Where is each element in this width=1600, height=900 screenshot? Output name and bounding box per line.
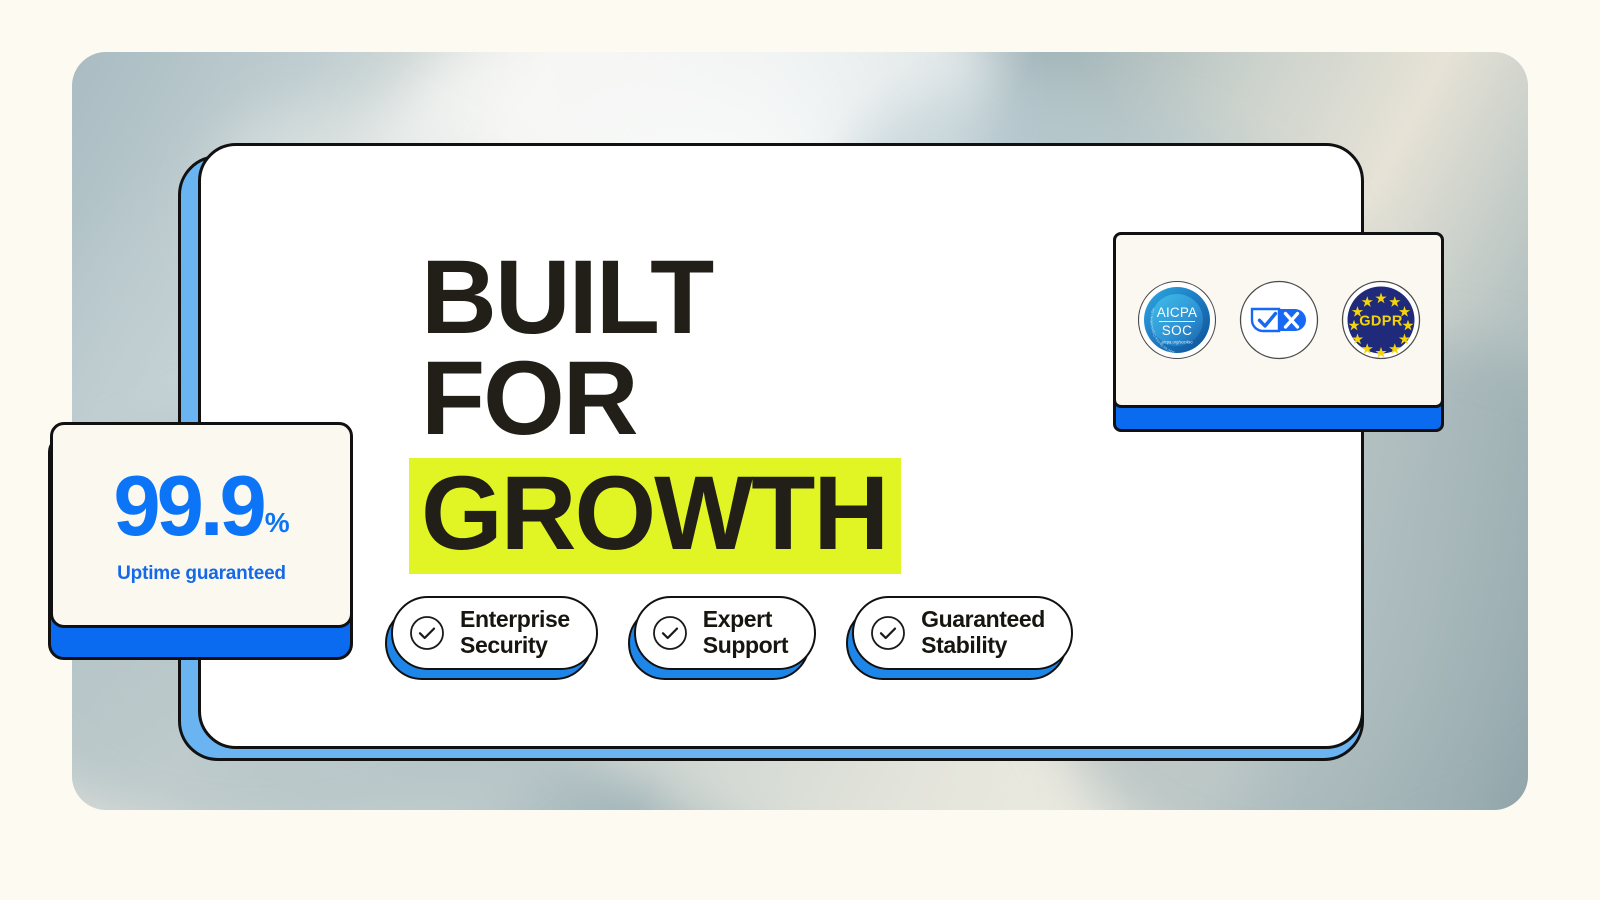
headline-highlight-growth: GROWTH: [409, 458, 901, 575]
aicpa-soc-badge-icon: AICPA SOC aicpa.org/soc4so SOC for Servi…: [1137, 280, 1217, 360]
uptime-stat-card: 99.9 % Uptime guaranteed: [50, 422, 353, 628]
feature-pill-label: Expert Support: [703, 607, 788, 659]
check-circle-icon: [409, 615, 445, 651]
feature-pill-guaranteed-stability-wrap: Guaranteed Stability: [852, 596, 1073, 670]
feature-pill-label: Enterprise Security: [460, 607, 570, 659]
uptime-caption: Uptime guaranteed: [117, 563, 286, 585]
feature-pill-enterprise-security[interactable]: Enterprise Security: [391, 596, 598, 670]
check-circle-icon: [652, 615, 688, 651]
svg-text:GDPR: GDPR: [1359, 314, 1403, 330]
uptime-value: 99.9: [113, 469, 262, 546]
compliance-badges-card: AICPA SOC aicpa.org/soc4so SOC for Servi…: [1113, 232, 1444, 408]
uptime-value-row: 99.9 %: [113, 469, 289, 546]
page-title: BUILT FOR GROWTH: [421, 248, 981, 574]
uptime-percent-symbol: %: [265, 509, 290, 537]
gdpr-badge-icon: GDPR: [1341, 280, 1421, 360]
check-circle-icon: [870, 615, 906, 651]
svg-text:AICPA: AICPA: [1156, 305, 1197, 320]
feature-pill-enterprise-security-wrap: Enterprise Security: [391, 596, 598, 670]
svg-text:SOC: SOC: [1161, 323, 1191, 338]
feature-pill-guaranteed-stability[interactable]: Guaranteed Stability: [852, 596, 1073, 670]
feature-pill-label: Guaranteed Stability: [921, 607, 1045, 659]
headline-line-1: BUILT: [421, 248, 981, 349]
feature-pill-expert-support[interactable]: Expert Support: [634, 596, 816, 670]
headline-line-2: FOR: [421, 349, 981, 450]
iso-certified-check-cross-badge-icon: [1239, 280, 1319, 360]
promo-banner: BUILT FOR GROWTH Enterprise Security: [0, 0, 1600, 900]
feature-pill-expert-support-wrap: Expert Support: [634, 596, 816, 670]
feature-pill-row: Enterprise Security Expert Support: [391, 596, 1073, 670]
svg-text:aicpa.org/soc4so: aicpa.org/soc4so: [1161, 340, 1193, 345]
